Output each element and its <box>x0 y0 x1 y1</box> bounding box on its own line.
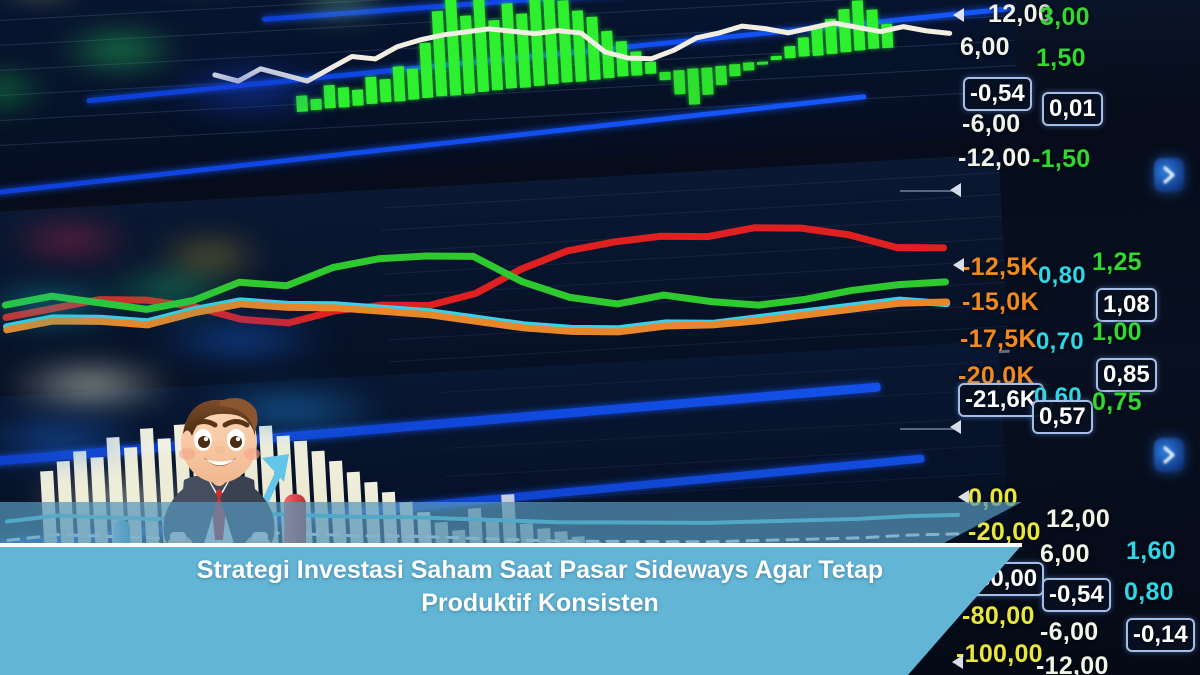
axis-marker-mid-2[interactable] <box>950 420 961 434</box>
axis-label-top-4[interactable]: -12,00 <box>958 144 1031 173</box>
highlight-value-mid-r1[interactable]: 1,08 <box>1096 288 1157 322</box>
axis-label-mid-1[interactable]: -12,5K <box>962 253 1039 282</box>
highlight-value-top-right[interactable]: 0,01 <box>1042 92 1103 126</box>
axis-label-bot-m1[interactable]: 12,00 <box>1046 505 1110 534</box>
screenshot-stage: 12,006,00-0,54-6,00-12,003,001,500,01-1,… <box>0 0 1200 675</box>
businessman-mascot <box>84 392 364 675</box>
axis-label-bot-m3[interactable]: -6,00 <box>1040 618 1098 647</box>
axis-label-bot-r2[interactable]: 0,80 <box>1124 578 1174 607</box>
axis-rule-top[interactable] <box>900 190 958 192</box>
axis-label-mid-m2[interactable]: 0,70 <box>1036 328 1084 356</box>
highlight-value-bot-left[interactable]: -60,00 <box>962 562 1044 596</box>
head <box>179 398 260 486</box>
axis-label-bot-m4[interactable]: -12,00 <box>1036 652 1109 675</box>
torso <box>176 474 262 577</box>
axis-label-bot-3[interactable]: -80,00 <box>962 602 1035 631</box>
axis-label-mid-m1[interactable]: 0,80 <box>1038 262 1086 290</box>
axis-label-mid-r3[interactable]: 0,75 <box>1092 388 1142 417</box>
highlight-value-top-left[interactable]: -0,54 <box>963 77 1032 111</box>
axis-label-bot-2[interactable]: -20,00 <box>968 518 1041 547</box>
axis-label-top-r1[interactable]: 3,00 <box>1040 3 1090 32</box>
axis-label-bot-m2[interactable]: 6,00 <box>1040 540 1090 569</box>
axis-marker-bot-2[interactable] <box>952 655 963 669</box>
chevron-right-icon <box>1161 166 1177 184</box>
next-chart-button-2[interactable] <box>1154 438 1184 472</box>
axis-label-bot-r1[interactable]: 1,60 <box>1126 537 1176 566</box>
axis-label-bot-4[interactable]: -100,00 <box>956 640 1043 669</box>
axis-label-mid-r2[interactable]: 1,00 <box>1092 318 1142 347</box>
axis-label-mid-2[interactable]: -15,0K <box>962 288 1039 317</box>
axis-label-top-r3[interactable]: -1,50 <box>1032 145 1090 174</box>
chevron-right-icon <box>1161 446 1177 464</box>
axis-label-bot-1[interactable]: 0,00 <box>968 484 1018 513</box>
axis-marker-mid-1[interactable] <box>953 258 964 272</box>
blurred-chart-smear-topleft <box>0 0 540 190</box>
axis-label-top-3[interactable]: -6,00 <box>962 110 1020 139</box>
axis-marker-top-1[interactable] <box>953 8 964 22</box>
axis-label-mid-r1[interactable]: 1,25 <box>1092 248 1142 277</box>
axis-marker-bot-1[interactable] <box>958 490 969 504</box>
axis-label-top-r2[interactable]: 1,50 <box>1036 44 1086 73</box>
axis-label-mid-3[interactable]: -17,5K <box>960 325 1037 354</box>
highlight-value-bot-right[interactable]: -0,14 <box>1126 618 1195 652</box>
next-chart-button-1[interactable] <box>1154 158 1184 192</box>
highlight-value-bot-mid[interactable]: -0,54 <box>1042 578 1111 612</box>
axis-label-top-2[interactable]: 6,00 <box>960 33 1010 62</box>
highlight-value-mid-r2[interactable]: 0,85 <box>1096 358 1157 392</box>
highlight-value-mid-mid[interactable]: 0,57 <box>1032 400 1093 434</box>
axis-rule-mid[interactable] <box>900 428 956 430</box>
